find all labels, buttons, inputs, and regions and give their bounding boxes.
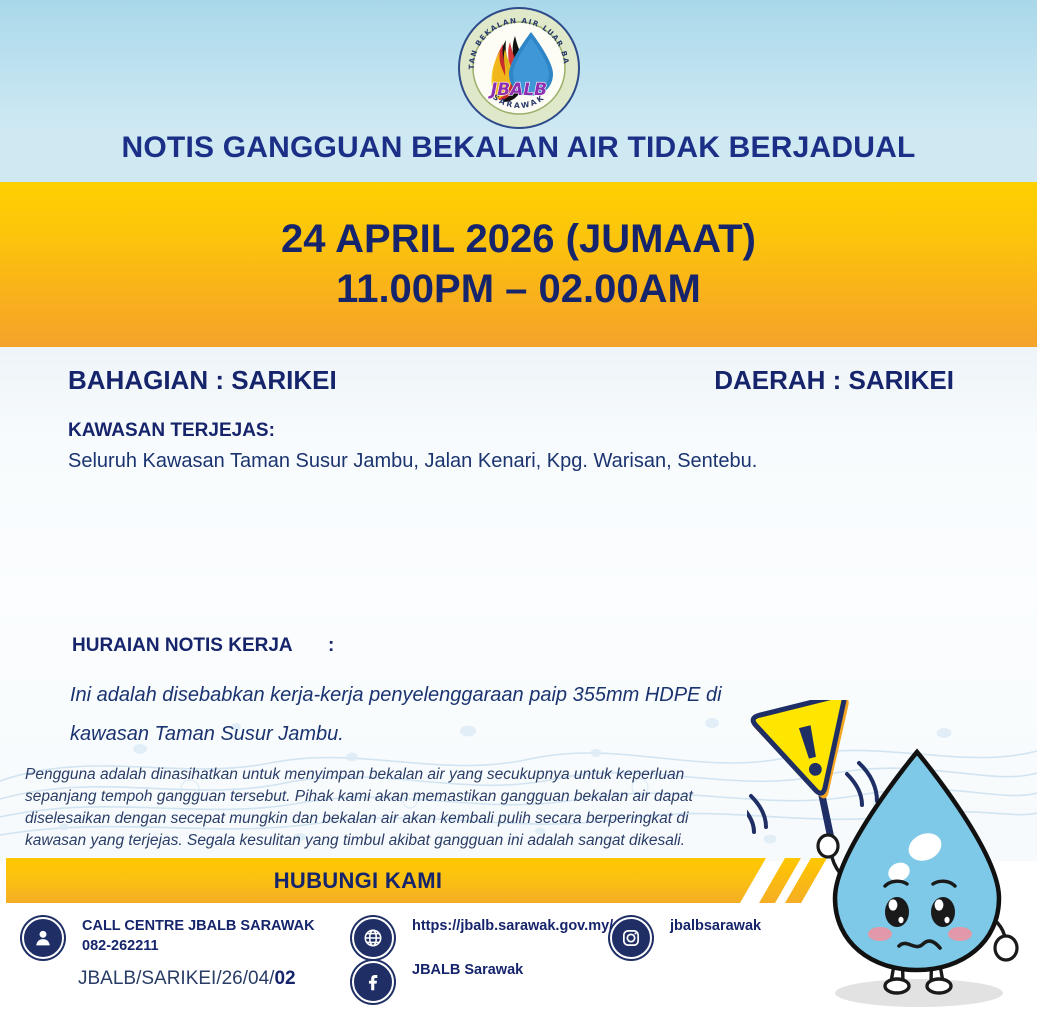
header-band: JABATAN BEKALAN AIR LUAR BANDAR SARAWAK … — [0, 0, 1037, 182]
person-icon — [22, 917, 64, 959]
website-url[interactable]: https://jbalb.sarawak.gov.my/ — [412, 917, 613, 937]
kawasan-terjejas-value: Seluruh Kawasan Taman Susur Jambu, Jalan… — [68, 447, 968, 476]
notice-poster: JABATAN BEKALAN AIR LUAR BANDAR SARAWAK … — [0, 0, 1037, 1031]
reference-number-suffix: 02 — [274, 968, 295, 989]
outage-time: 11.00PM – 02.00AM — [336, 265, 701, 315]
contact-banner-wrap: HUBUNGI KAMI — [0, 858, 1037, 903]
outage-date: 24 APRIL 2026 (JUMAAT) — [281, 215, 756, 265]
disclaimer-text: Pengguna adalah dinasihatkan untuk menyi… — [25, 764, 740, 852]
kawasan-terjejas-label: KAWASAN TERJEJAS: — [68, 420, 275, 442]
contact-banner: HUBUNGI KAMI — [6, 858, 766, 903]
contact-instagram[interactable]: jbalbsarawak — [610, 917, 761, 959]
bahagian-label: BAHAGIAN : SARIKEI — [68, 365, 337, 396]
reference-number-prefix: JBALB/SARIKEI/26/04/ — [78, 968, 274, 989]
huraian-colon: : — [328, 635, 334, 657]
notice-title: NOTIS GANGGUAN BEKALAN AIR TIDAK BERJADU… — [0, 131, 1037, 165]
jbalb-logo: JABATAN BEKALAN AIR LUAR BANDAR SARAWAK … — [457, 6, 581, 130]
huraian-notis-kerja-value: Ini adalah disebabkan kerja-kerja penyel… — [70, 676, 770, 754]
call-centre-phone: 082-262211 — [82, 937, 315, 957]
date-banner: 24 APRIL 2026 (JUMAAT) 11.00PM – 02.00AM — [0, 182, 1037, 347]
contact-facebook[interactable]: JBALB Sarawak — [352, 961, 523, 1003]
svg-text:JBALB: JBALB — [487, 80, 546, 100]
reference-number: JBALB/SARIKEI/26/04/02 — [78, 968, 296, 990]
facebook-handle[interactable]: JBALB Sarawak — [412, 961, 523, 981]
contact-call-centre: CALL CENTRE JBALB SARAWAK 082-262211 — [22, 917, 315, 959]
instagram-icon[interactable] — [610, 917, 652, 959]
globe-icon[interactable] — [352, 917, 394, 959]
huraian-notis-kerja-label: HURAIAN NOTIS KERJA — [72, 635, 293, 657]
jbalb-logo-icon: JABATAN BEKALAN AIR LUAR BANDAR SARAWAK … — [457, 6, 581, 130]
contact-website[interactable]: https://jbalb.sarawak.gov.my/ — [352, 917, 613, 959]
facebook-icon[interactable] — [352, 961, 394, 1003]
contact-banner-title: HUBUNGI KAMI — [274, 868, 443, 894]
instagram-handle[interactable]: jbalbsarawak — [670, 917, 761, 937]
footer-contacts: CALL CENTRE JBALB SARAWAK 082-262211 htt… — [0, 903, 1037, 1031]
call-centre-name: CALL CENTRE JBALB SARAWAK — [82, 917, 315, 937]
daerah-label: DAERAH : SARIKEI — [714, 365, 954, 396]
